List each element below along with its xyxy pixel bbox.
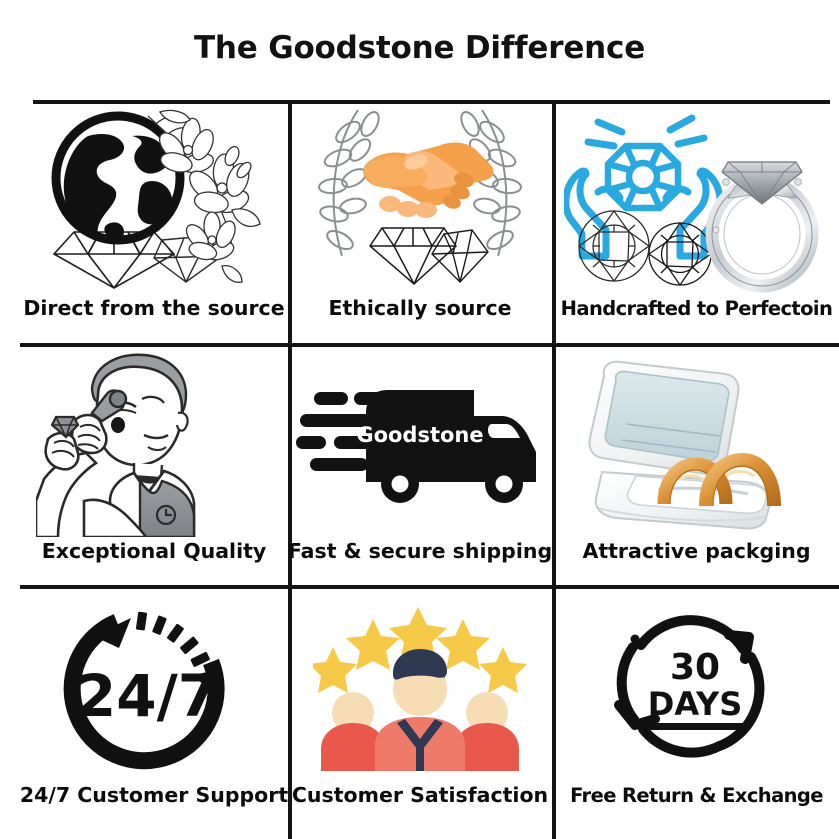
page-title-text: The Goodstone Difference xyxy=(194,30,645,66)
feature-label: Direct from the source xyxy=(23,298,284,329)
return-days-number: 30 xyxy=(669,647,719,688)
feature-cell-fast-secure-shipping[interactable]: Goodstone Fast & secure shipping xyxy=(290,347,550,571)
page-title: The Goodstone Difference xyxy=(0,30,839,66)
ring-box-with-gold-bands-icon xyxy=(554,347,839,541)
feature-label: 24/7 Customer Support xyxy=(20,785,288,816)
hands-holding-gem-with-ring-icon xyxy=(554,104,839,299)
handshake-with-laurel-and-diamonds-icon xyxy=(290,104,550,298)
delivery-truck-icon: Goodstone xyxy=(290,347,550,541)
feature-label: Ethically source xyxy=(328,298,511,329)
infographic-root: The Goodstone Difference xyxy=(0,0,839,839)
feature-cell-customer-support[interactable]: 24/7 24/7 Customer Support xyxy=(22,589,286,815)
return-days-word: DAYS xyxy=(647,685,741,723)
30-days-return-arrows-icon: 30 DAYS xyxy=(554,589,839,786)
feature-label: Customer Satisfaction xyxy=(292,785,548,816)
feature-cell-attractive-packaging[interactable]: Attractive packging xyxy=(554,347,839,571)
truck-brand-text: Goodstone xyxy=(356,423,483,447)
feature-label: Free Return & Exchange xyxy=(570,786,823,816)
feature-label: Handcrafted to Perfectoin xyxy=(561,299,833,329)
jeweler-with-loupe-icon xyxy=(22,347,286,541)
feature-label: Exceptional Quality xyxy=(42,541,267,572)
globe-with-flowers-and-diamond-icon xyxy=(22,104,286,298)
feature-cell-handcrafted-to-perfection[interactable]: Handcrafted to Perfectoin xyxy=(554,104,839,328)
feature-cell-exceptional-quality[interactable]: Exceptional Quality xyxy=(22,347,286,571)
feature-cell-ethically-source[interactable]: Ethically source xyxy=(290,104,550,328)
feature-label: Fast & secure shipping xyxy=(288,541,552,572)
support-hours-text: 24/7 xyxy=(76,662,218,730)
feature-cell-direct-from-source[interactable]: Direct from the source xyxy=(22,104,286,328)
feature-label: Attractive packging xyxy=(582,541,810,572)
five-stars-over-people-icon xyxy=(290,589,550,785)
24-7-circular-arrow-icon: 24/7 xyxy=(22,589,286,785)
feature-cell-free-return-exchange[interactable]: 30 DAYS Free Return & Exchange xyxy=(554,589,839,815)
feature-cell-customer-satisfaction[interactable]: Customer Satisfaction xyxy=(290,589,550,815)
